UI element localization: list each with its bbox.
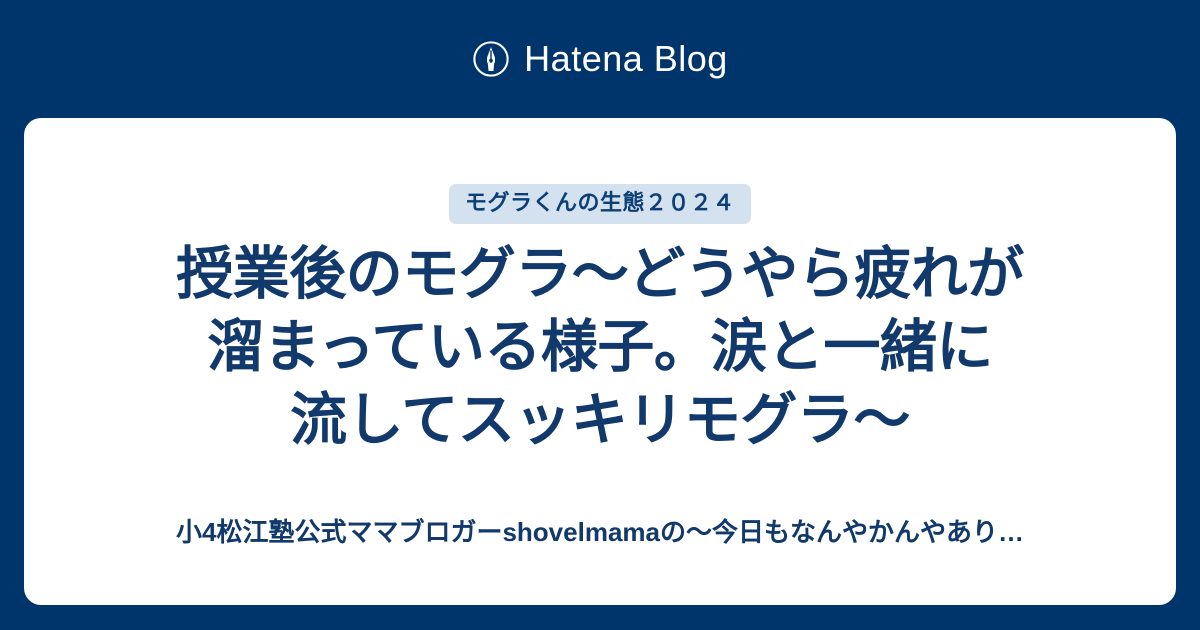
hatena-blog-brand[interactable]: Hatena Blog	[0, 0, 1200, 118]
entry-title-line-2: 溜まっている様子。涙と一緒に	[95, 311, 1105, 384]
entry-card: モグラくんの生態２０２４ 授業後のモグラ〜どうやら疲れが 溜まっている様子。涙と…	[24, 118, 1176, 605]
pen-nib-circle-icon	[472, 40, 510, 78]
category-badge-row: モグラくんの生態２０２４	[24, 184, 1176, 224]
entry-title-line-1: 授業後のモグラ〜どうやら疲れが	[95, 238, 1105, 311]
blog-name[interactable]: 小4松江塾公式ママブロガーshovelmamaの〜今日もなんやかんやあり…	[24, 514, 1176, 550]
category-badge[interactable]: モグラくんの生態２０２４	[449, 184, 751, 224]
brand-name: Hatena Blog	[524, 41, 728, 77]
entry-title-line-3: 流してスッキリモグラ〜	[95, 384, 1105, 457]
entry-title: 授業後のモグラ〜どうやら疲れが 溜まっている様子。涙と一緒に 流してスッキリモグ…	[95, 238, 1105, 457]
